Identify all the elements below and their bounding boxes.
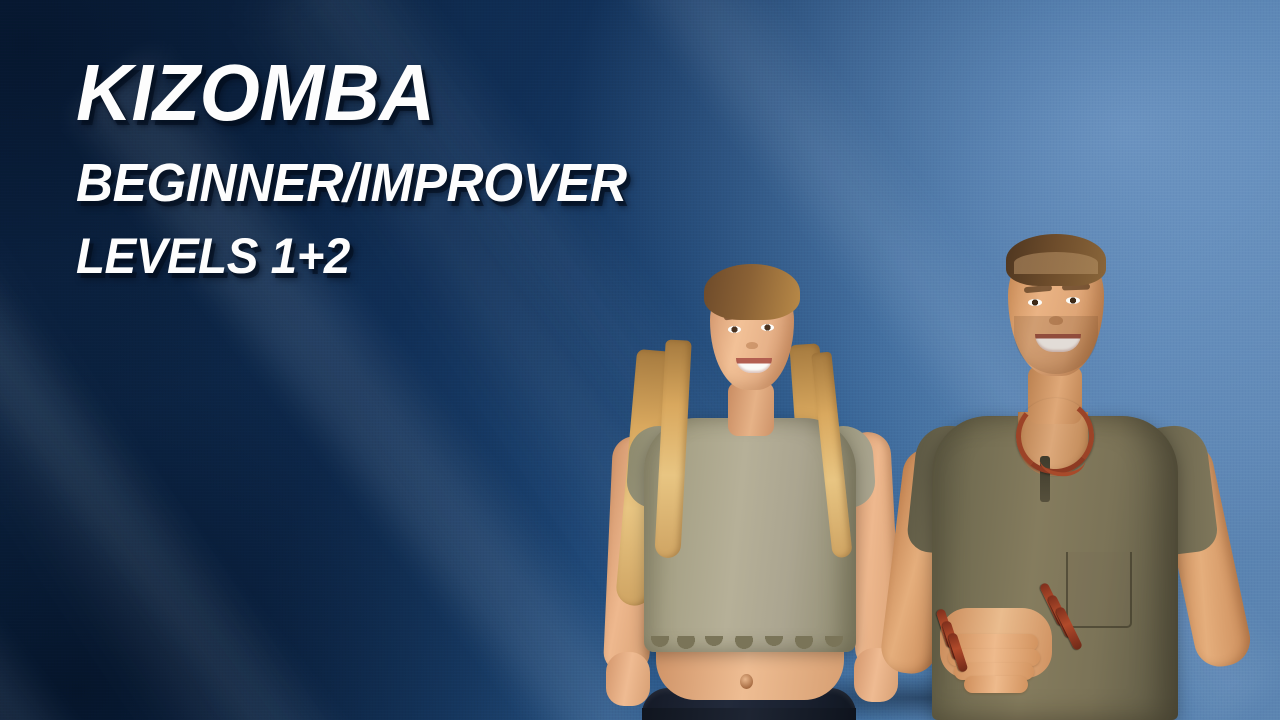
man-eyebrow-left — [1024, 285, 1052, 293]
man-presenter — [890, 220, 1230, 720]
woman-presenter — [600, 240, 900, 720]
woman-hand-left — [606, 652, 650, 706]
woman-hair-top — [704, 264, 800, 320]
man-hair — [1006, 234, 1106, 286]
man-finger — [964, 676, 1028, 693]
woman-eye-right — [761, 324, 774, 331]
man-eye-right — [1066, 297, 1080, 304]
woman-navel — [740, 674, 753, 689]
title-block: KIZOMBA BEGINNER/IMPROVER LEVELS 1+2 — [76, 52, 656, 282]
woman-top-hem — [648, 636, 852, 652]
man-clasped-hands — [930, 602, 1080, 694]
woman-mouth — [736, 358, 772, 373]
course-level-label: BEGINNER/IMPROVER — [76, 156, 627, 211]
woman-eye-left — [728, 326, 741, 333]
woman-nose — [746, 342, 758, 349]
jeans-rivet — [744, 714, 750, 720]
video-thumbnail: KIZOMBA BEGINNER/IMPROVER LEVELS 1+2 — [0, 0, 1280, 720]
course-title: KIZOMBA — [76, 52, 638, 134]
man-bracelet-right — [1055, 606, 1083, 651]
course-levels-label: LEVELS 1+2 — [76, 231, 627, 282]
man-eye-left — [1028, 299, 1042, 306]
jeans-rivet — [794, 712, 800, 718]
woman-neck — [728, 382, 774, 436]
jeans-rivet — [678, 712, 684, 718]
man-stubble — [1014, 316, 1098, 374]
